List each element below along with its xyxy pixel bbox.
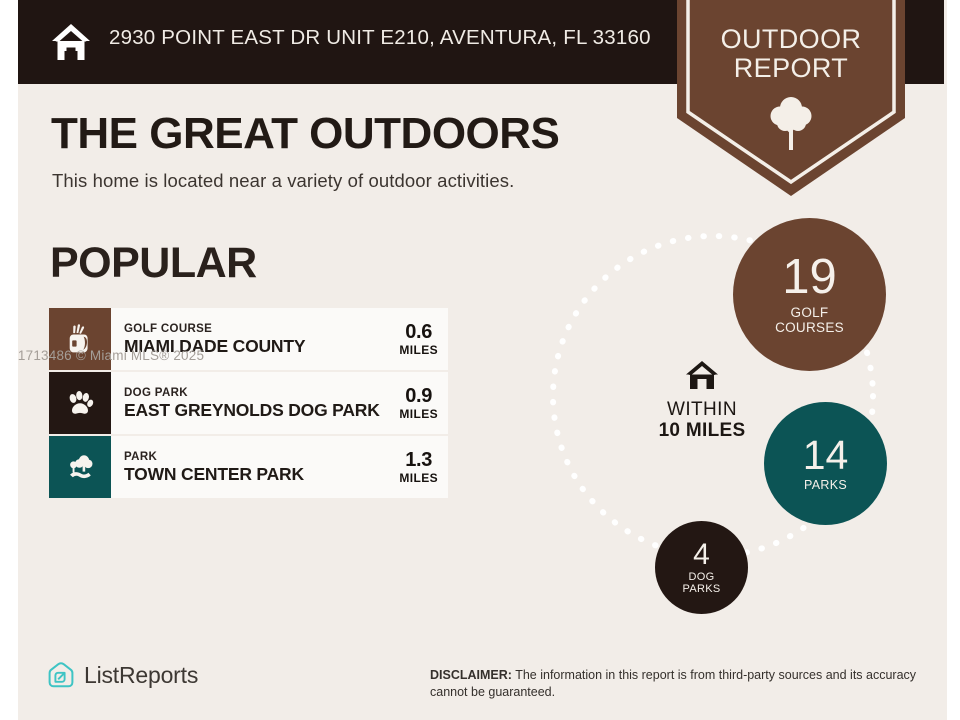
list-item-distance: 1.3 MILES <box>395 449 438 485</box>
home-icon <box>50 22 92 62</box>
badge-title-line1: OUTDOOR <box>677 25 905 54</box>
stat-circle-dog-parks[interactable]: 4 DOG PARKS <box>655 521 748 614</box>
stat-value: 14 <box>803 435 849 476</box>
section-title-popular: POPULAR <box>50 239 257 288</box>
stat-value: 19 <box>782 253 837 302</box>
stat-value: 4 <box>693 540 710 570</box>
center-label-line2: 10 MILES <box>622 420 782 442</box>
list-item-distance: 0.6 MILES <box>395 321 438 357</box>
list-item-body: DOG PARK EAST GREYNOLDS DOG PARK 0.9 MIL… <box>111 372 448 434</box>
list-item-body: PARK TOWN CENTER PARK 1.3 MILES <box>111 436 448 498</box>
left-page-margin <box>0 0 18 720</box>
stat-label: GOLF COURSES <box>775 306 844 335</box>
list-item-name: TOWN CENTER PARK <box>124 464 395 485</box>
within-10-miles-infographic: WITHIN 10 MILES 19 GOLF COURSES 14 PARKS… <box>500 225 940 625</box>
stat-label-line1: DOG <box>683 572 721 584</box>
listreports-logo[interactable]: ListReports <box>46 660 198 690</box>
page-title: THE GREAT OUTDOORS <box>51 109 559 159</box>
outdoor-report-page: 2930 POINT EAST DR UNIT E210, AVENTURA, … <box>0 0 960 720</box>
badge-title-line2: REPORT <box>677 54 905 83</box>
distance-unit: MILES <box>399 343 438 357</box>
list-item-name: EAST GREYNOLDS DOG PARK <box>124 400 395 421</box>
center-label: WITHIN 10 MILES <box>622 360 782 442</box>
listreports-wordmark: ListReports <box>84 662 198 689</box>
right-page-margin <box>947 0 960 720</box>
paw-print-icon <box>49 372 111 434</box>
stat-label-line2: PARKS <box>683 584 721 596</box>
stat-label: PARKS <box>804 479 847 493</box>
stat-circle-golf-courses[interactable]: 19 GOLF COURSES <box>733 218 886 371</box>
list-item[interactable]: DOG PARK EAST GREYNOLDS DOG PARK 0.9 MIL… <box>49 372 448 434</box>
stat-label-line1: GOLF <box>775 306 844 321</box>
stat-label-line2: COURSES <box>775 321 844 336</box>
stat-circle-parks[interactable]: 14 PARKS <box>764 402 887 525</box>
distance-value: 1.3 <box>399 449 438 471</box>
tree-icon <box>769 95 813 151</box>
distance-value: 0.6 <box>399 321 438 343</box>
list-item-name: MIAMI DADE COUNTY <box>124 336 395 357</box>
list-item[interactable]: PARK TOWN CENTER PARK 1.3 MILES <box>49 436 448 498</box>
popular-list: GOLF COURSE MIAMI DADE COUNTY 0.6 MILES <box>49 308 448 500</box>
badge-title: OUTDOOR REPORT <box>677 25 905 83</box>
home-icon <box>685 360 719 390</box>
list-item[interactable]: GOLF COURSE MIAMI DADE COUNTY 0.6 MILES <box>49 308 448 370</box>
disclaimer-label: DISCLAIMER: <box>430 668 512 682</box>
distance-unit: MILES <box>399 471 438 485</box>
listreports-house-icon <box>46 660 76 690</box>
list-item-category: DOG PARK <box>124 386 395 400</box>
park-tree-icon <box>49 436 111 498</box>
list-item-category: PARK <box>124 450 395 464</box>
distance-value: 0.9 <box>399 385 438 407</box>
distance-unit: MILES <box>399 407 438 421</box>
outdoor-report-badge: OUTDOOR REPORT <box>677 0 905 200</box>
disclaimer: DISCLAIMER: The information in this repo… <box>430 667 920 701</box>
stat-label: DOG PARKS <box>683 572 721 596</box>
list-item-body: GOLF COURSE MIAMI DADE COUNTY 0.6 MILES <box>111 308 448 370</box>
property-address: 2930 POINT EAST DR UNIT E210, AVENTURA, … <box>109 26 651 50</box>
list-item-category: GOLF COURSE <box>124 322 395 336</box>
center-label-line1: WITHIN <box>622 399 782 420</box>
page-subtitle: This home is located near a variety of o… <box>52 170 514 192</box>
stat-label-line1: PARKS <box>804 479 847 493</box>
list-item-distance: 0.9 MILES <box>395 385 438 421</box>
golf-bag-icon <box>49 308 111 370</box>
